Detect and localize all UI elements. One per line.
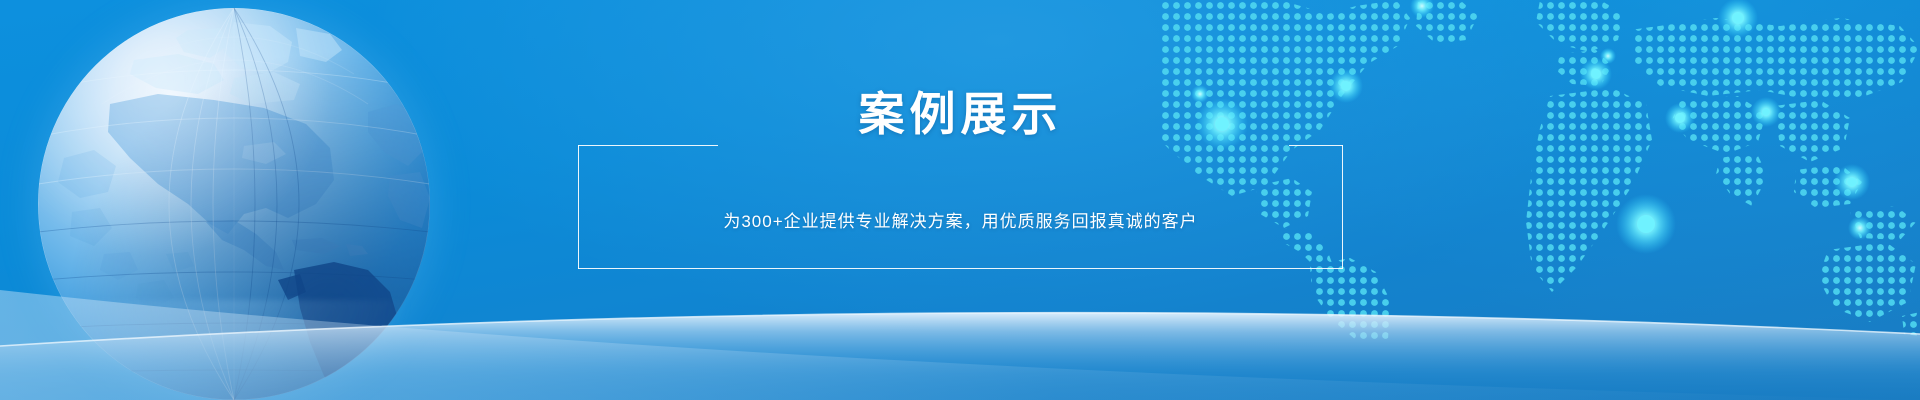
frame-border-bottom: [578, 268, 1343, 269]
frame-border-top-right: [1289, 145, 1343, 146]
page-title: 案例展示: [578, 91, 1343, 137]
page-banner: 案例展示 为300+企业提供专业解决方案，用优质服务回报真诚的客户: [0, 0, 1920, 400]
frame-border-top-left: [578, 145, 718, 146]
page-subtitle: 为300+企业提供专业解决方案，用优质服务回报真诚的客户: [578, 207, 1343, 232]
banner-text-frame: 案例展示 为300+企业提供专业解决方案，用优质服务回报真诚的客户: [578, 145, 1343, 269]
globe-reflection: [60, 300, 410, 396]
